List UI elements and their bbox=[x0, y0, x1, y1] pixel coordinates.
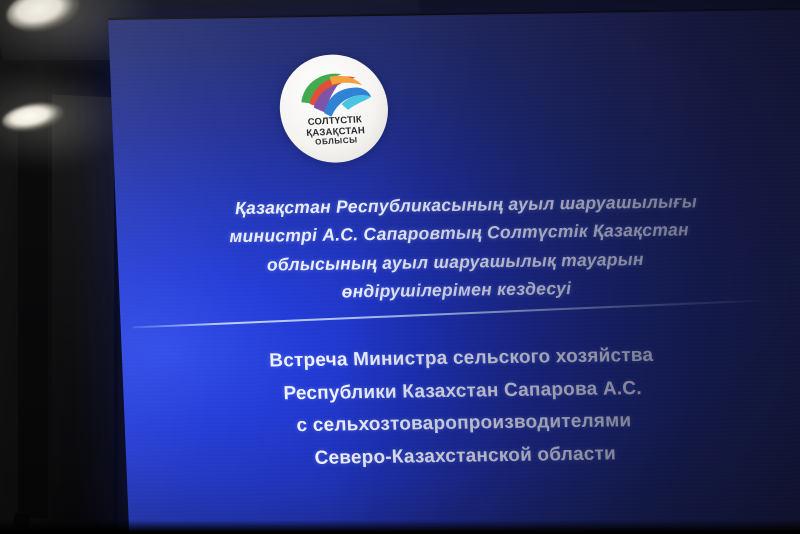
slide-content: СОЛТҮСТІК ҚАЗАҚСТАН ОБЛЫСЫ Қазақстан Рес… bbox=[108, 7, 800, 534]
projection-screen-area: СОЛТҮСТІК ҚАЗАҚСТАН ОБЛЫСЫ Қазақстан Рес… bbox=[0, 0, 800, 534]
emblem-caption: СОЛТҮСТІК ҚАЗАҚСТАН ОБЛЫСЫ bbox=[281, 114, 391, 150]
slide-title-russian: Встреча Министра сельского хозяйства Рес… bbox=[116, 338, 800, 479]
emblem-swoosh-icon bbox=[289, 65, 377, 121]
photo-bottom-edge bbox=[0, 520, 800, 534]
projection-screen: СОЛТҮСТІК ҚАЗАҚСТАН ОБЛЫСЫ Қазақстан Рес… bbox=[108, 7, 800, 534]
photo-scene: СОЛТҮСТІК ҚАЗАҚСТАН ОБЛЫСЫ Қазақстан Рес… bbox=[0, 0, 800, 534]
slide-title-kazakh: Қазақстан Республикасының ауыл шаруашылы… bbox=[108, 186, 800, 310]
north-kazakhstan-region-emblem: СОЛТҮСТІК ҚАЗАҚСТАН ОБЛЫСЫ bbox=[276, 52, 392, 165]
